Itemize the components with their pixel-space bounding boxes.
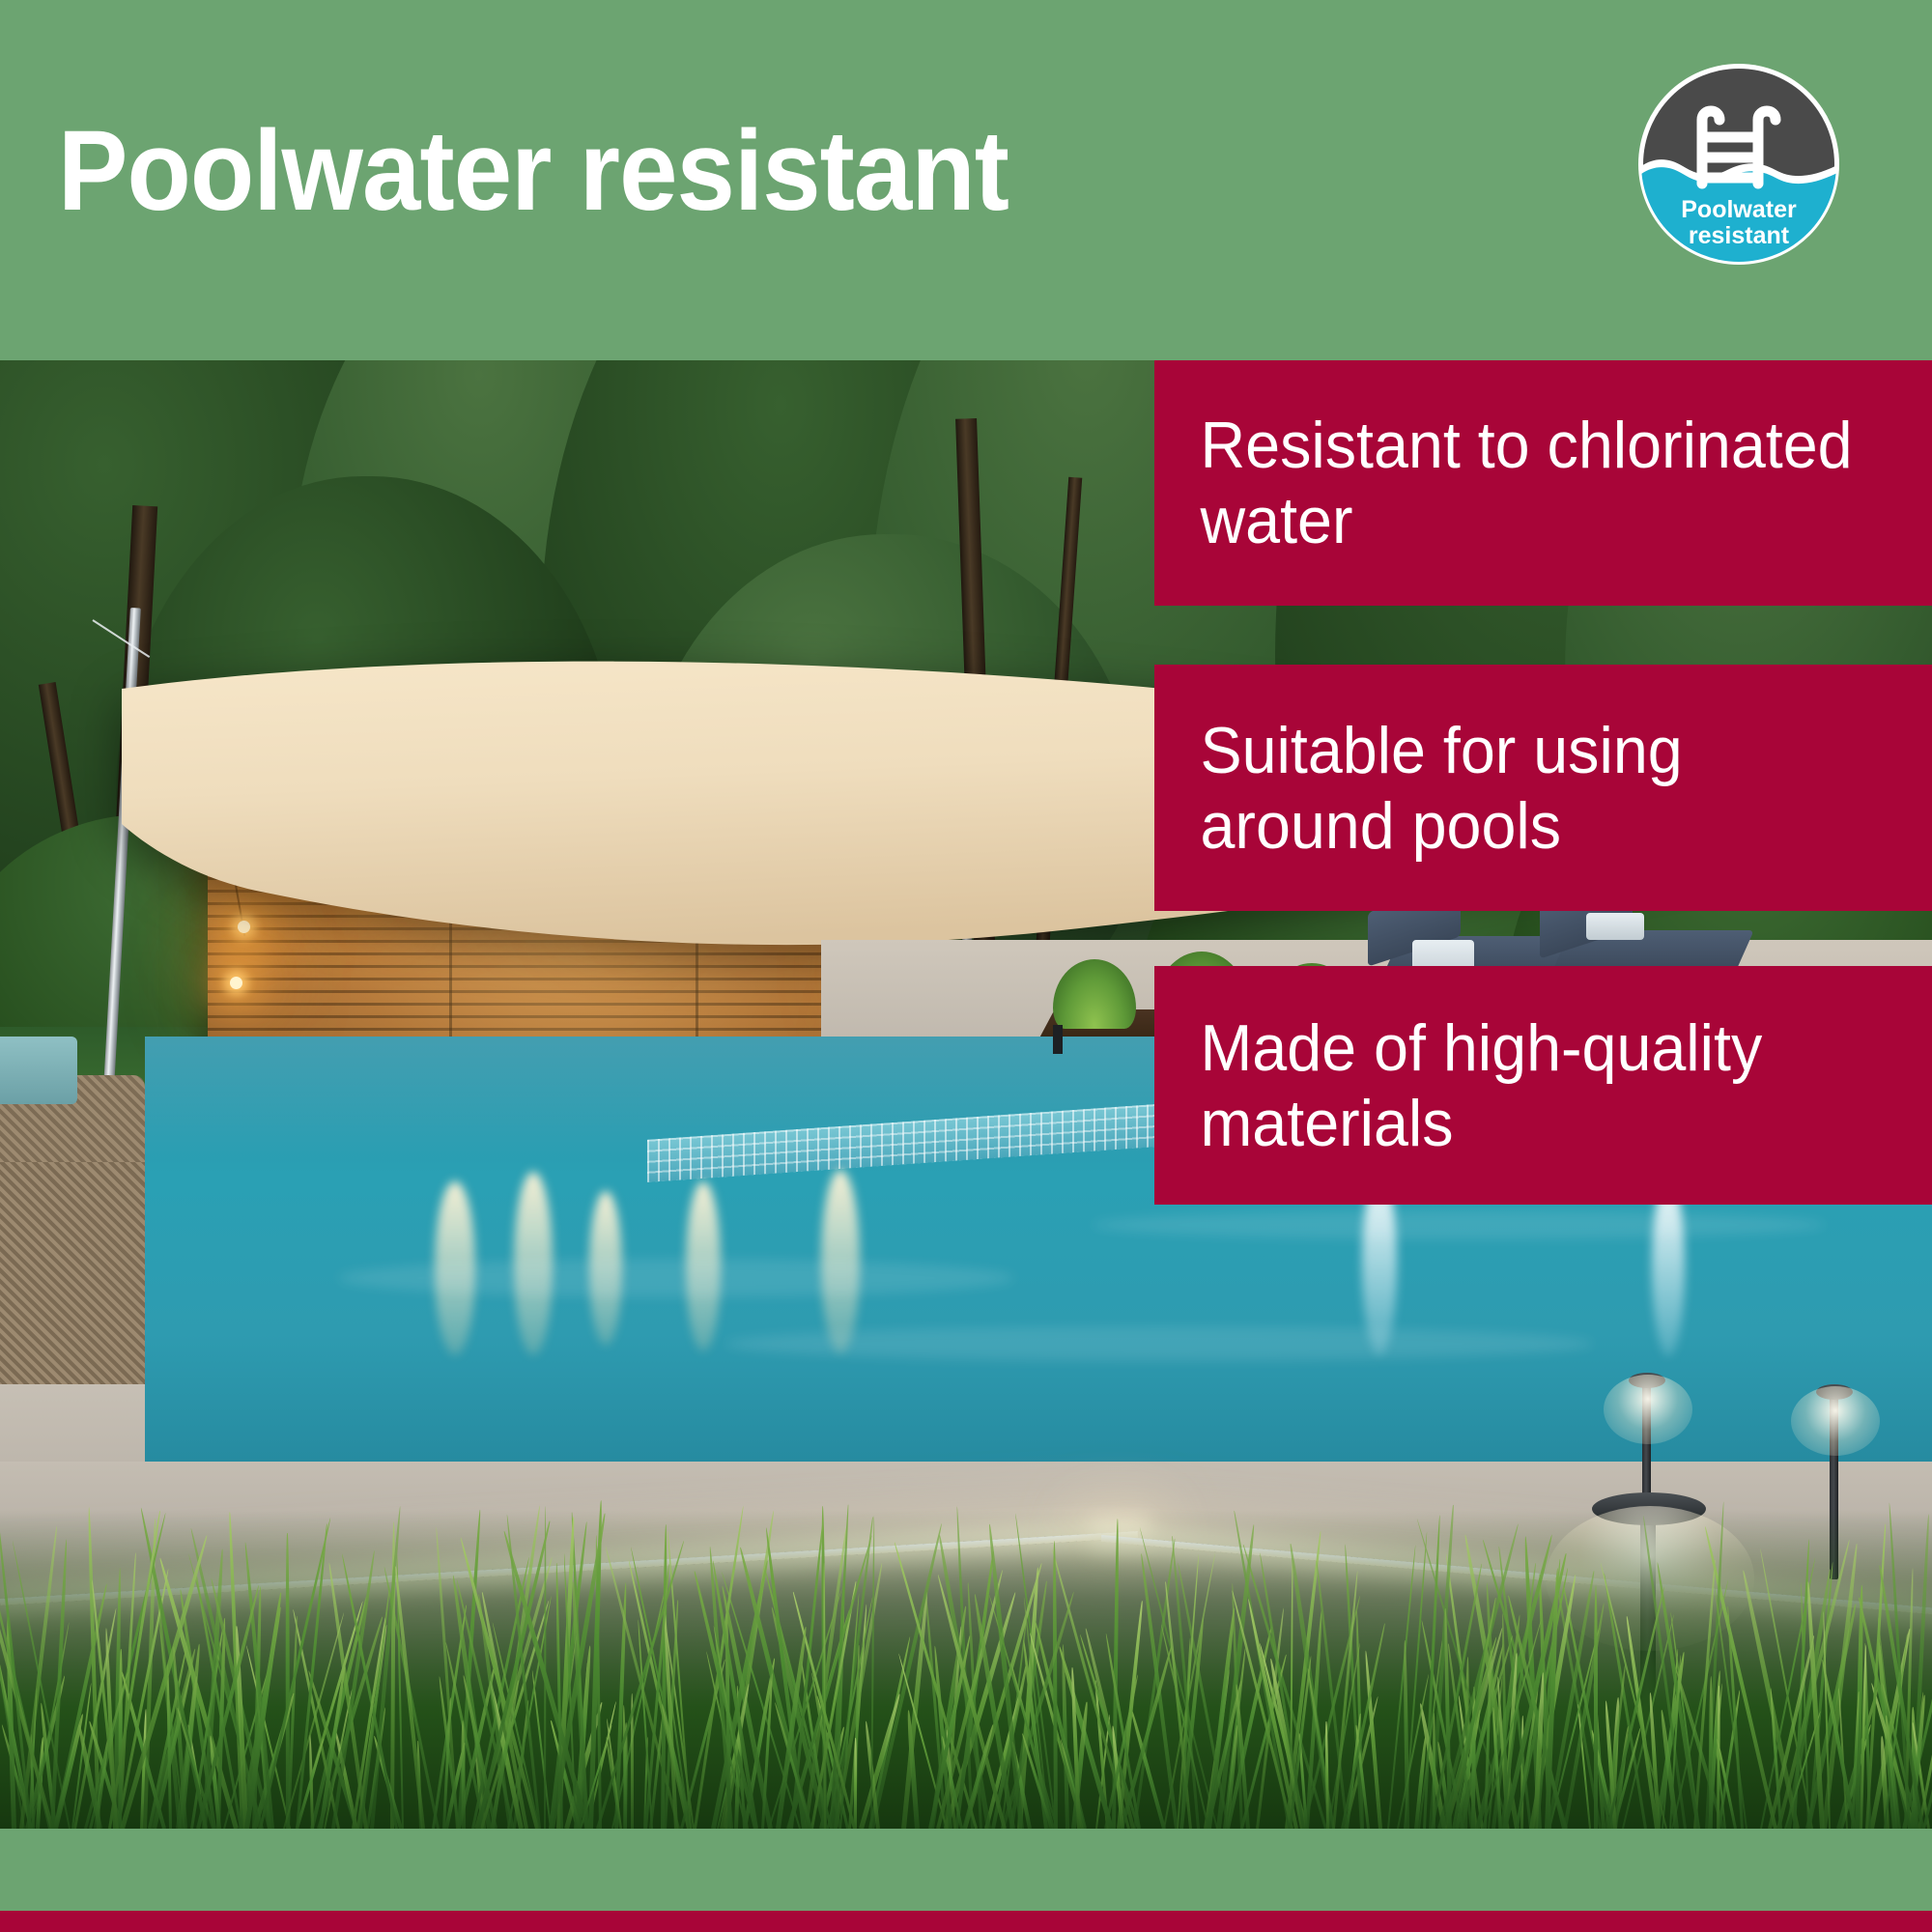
feature-box-2: Suitable for using around pools	[1154, 665, 1932, 911]
footer-red-strip	[0, 1911, 1932, 1932]
page-title: Poolwater resistant	[58, 114, 1009, 228]
badge-line2: resistant	[1689, 222, 1790, 249]
water-ripple	[338, 1259, 1014, 1297]
infographic-canvas: Poolwater resistant	[0, 0, 1932, 1932]
bollard-light-glow	[1604, 1375, 1692, 1444]
feature-text-1: Resistant to chlorinated water	[1154, 408, 1893, 558]
armchair-cushion	[0, 1037, 77, 1104]
feature-box-1: Resistant to chlorinated water	[1154, 360, 1932, 606]
water-ripple	[724, 1326, 1594, 1361]
bollard-light-glow	[1791, 1386, 1880, 1456]
grass-blades	[0, 1500, 1932, 1829]
feature-box-3: Made of high-quality materials	[1154, 966, 1932, 1205]
wicker-sofa	[0, 1162, 164, 1384]
poolwater-resistant-badge: Poolwater resistant	[1634, 60, 1843, 269]
spike-spotlight	[1053, 1025, 1063, 1054]
string-light-bulb	[230, 977, 242, 989]
footer-green-band	[0, 1829, 1932, 1911]
header-bar: Poolwater resistant	[0, 0, 1932, 360]
badge-line1: Poolwater	[1681, 196, 1797, 223]
water-ripple	[1092, 1210, 1826, 1239]
feature-text-3: Made of high-quality materials	[1154, 1010, 1893, 1161]
lounger-towel	[1586, 913, 1644, 940]
feature-text-2: Suitable for using around pools	[1154, 713, 1893, 864]
